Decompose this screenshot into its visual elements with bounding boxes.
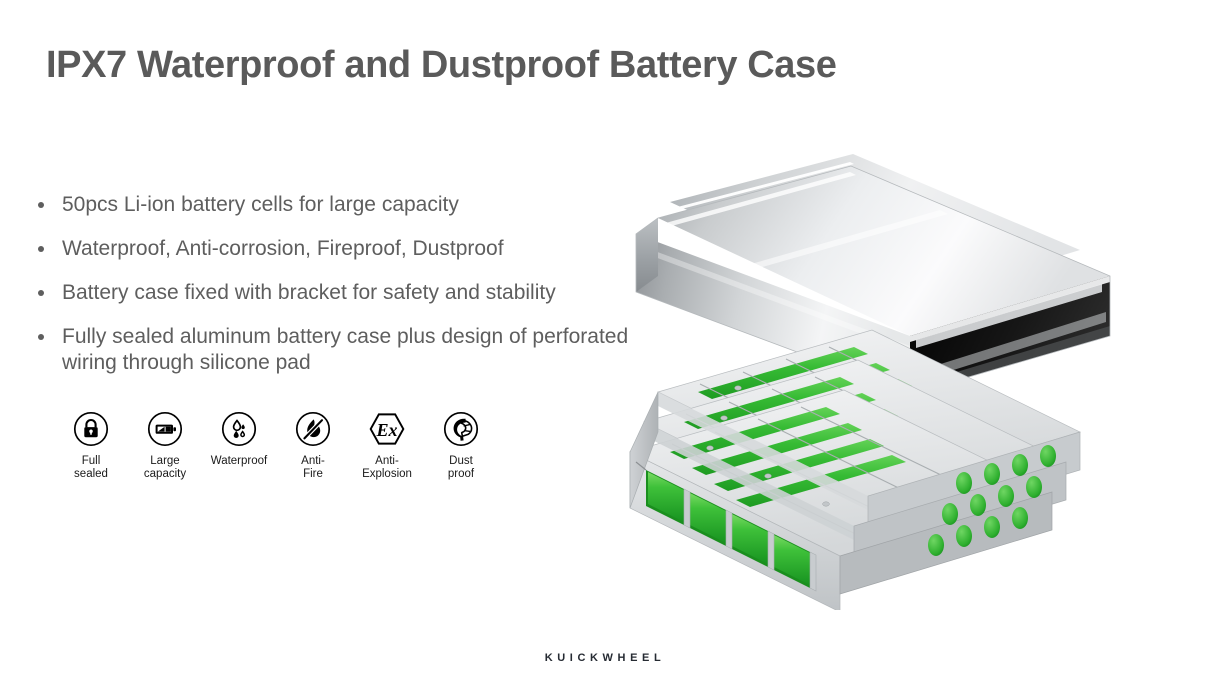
feature-label: Waterproof bbox=[211, 455, 267, 468]
battery-pack bbox=[630, 330, 1080, 610]
feature-waterproof: Waterproof bbox=[204, 410, 274, 468]
water-drop-icon bbox=[220, 410, 258, 448]
product-image bbox=[610, 140, 1210, 610]
no-fire-icon bbox=[294, 410, 332, 448]
bullet-dot-icon bbox=[38, 290, 44, 296]
svg-text:Εx: Εx bbox=[375, 420, 397, 440]
feature-label: Anti- Fire bbox=[301, 455, 325, 481]
list-item: Battery case fixed with bracket for safe… bbox=[30, 280, 660, 306]
brand-logo: KUICKWHEEL bbox=[0, 652, 1210, 664]
feature-anti-fire: Anti- Fire bbox=[278, 410, 348, 481]
bullet-dot-icon bbox=[38, 202, 44, 208]
page-title: IPX7 Waterproof and Dustproof Battery Ca… bbox=[46, 44, 836, 87]
battery-icon bbox=[146, 410, 184, 448]
feature-label: Dust proof bbox=[448, 455, 474, 481]
list-item: 50pcs Li-ion battery cells for large cap… bbox=[30, 192, 660, 218]
bullet-text: 50pcs Li-ion battery cells for large cap… bbox=[62, 192, 660, 218]
bullet-text: Battery case fixed with bracket for safe… bbox=[62, 280, 660, 306]
padlock-icon bbox=[72, 410, 110, 448]
list-item: Fully sealed aluminum battery case plus … bbox=[30, 324, 660, 376]
feature-label: Anti- Explosion bbox=[362, 455, 412, 481]
feature-icon-row: Full sealed Large capacity bbox=[56, 410, 500, 481]
bullet-text: Waterproof, Anti-corrosion, Fireproof, D… bbox=[62, 236, 660, 262]
feature-large-capacity: Large capacity bbox=[130, 410, 200, 481]
bullet-text: Fully sealed aluminum battery case plus … bbox=[62, 324, 660, 376]
list-item: Waterproof, Anti-corrosion, Fireproof, D… bbox=[30, 236, 660, 262]
feature-anti-explosion: Εx Anti- Explosion bbox=[352, 410, 422, 481]
feature-dust-proof: Dust proof bbox=[426, 410, 496, 481]
feature-label: Full sealed bbox=[74, 455, 108, 481]
bullet-dot-icon bbox=[38, 334, 44, 340]
feature-full-sealed: Full sealed bbox=[56, 410, 126, 481]
dust-mask-icon bbox=[442, 410, 480, 448]
feature-bullet-list: 50pcs Li-ion battery cells for large cap… bbox=[30, 192, 660, 394]
atex-explosion-icon: Εx bbox=[368, 410, 406, 448]
feature-label: Large capacity bbox=[144, 455, 186, 481]
bullet-dot-icon bbox=[38, 246, 44, 252]
